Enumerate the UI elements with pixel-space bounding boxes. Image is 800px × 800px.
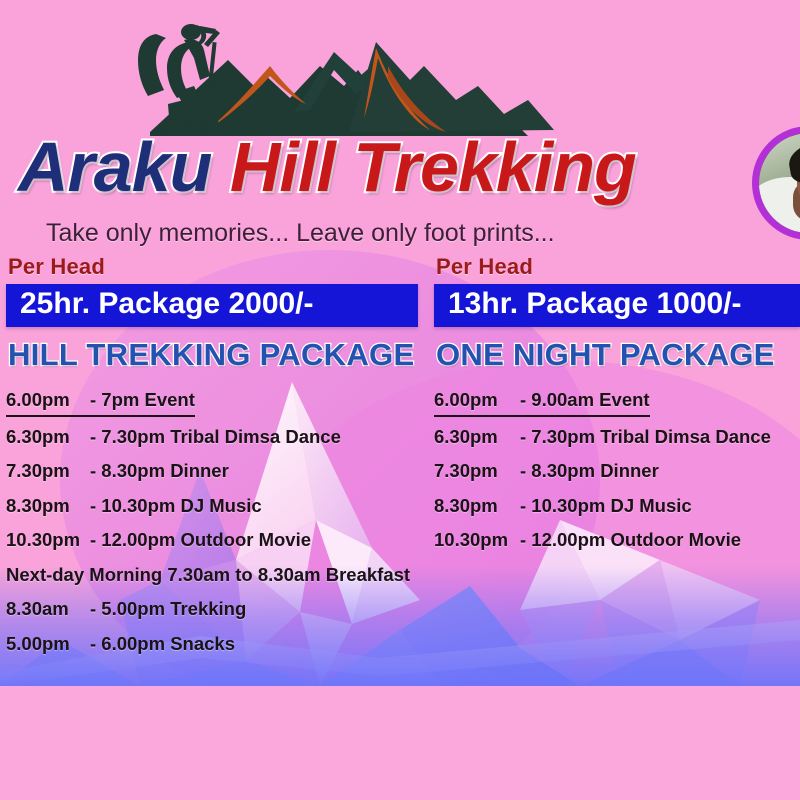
- schedule-item-time: 5.00pm: [6, 633, 90, 654]
- brand-wordmark: Araku Hill Trekking: [18, 132, 636, 202]
- per-head-label-left: Per Head: [8, 255, 418, 279]
- schedule-item-time: 8.30pm: [6, 495, 90, 516]
- schedule-item: 8.30am- 5.00pm Trekking: [6, 598, 418, 619]
- schedule-item: 7.30pm- 8.30pm Dinner: [6, 460, 418, 481]
- schedule-item-time: 7.30pm: [434, 460, 520, 481]
- schedule-item: 8.30pm- 10.30pm DJ Music: [434, 495, 800, 516]
- price-bar-right: 13hr. Package 1000/-: [434, 284, 800, 326]
- brand-word-araku: Araku: [18, 128, 211, 206]
- schedule-list-left: 6.00pm- 7pm Event6.30pm- 7.30pm Tribal D…: [6, 389, 418, 655]
- schedule-item-time: Next-day Morning 7.30am to 8.30am Breakf…: [6, 564, 410, 585]
- schedule-item: 6.00pm- 7pm Event: [6, 389, 195, 417]
- schedule-item: 6.30pm- 7.30pm Tribal Dimsa Dance: [6, 426, 418, 447]
- schedule-item-detail: - 7.30pm Tribal Dimsa Dance: [520, 426, 771, 447]
- package-title-left: HILL TREKKING PACKAGE: [8, 337, 418, 373]
- schedule-item: 7.30pm- 8.30pm Dinner: [434, 460, 800, 481]
- schedule-item-time: 6.00pm: [6, 389, 90, 410]
- schedule-item: 6.30pm- 7.30pm Tribal Dimsa Dance: [434, 426, 800, 447]
- per-head-label-right: Per Head: [436, 255, 800, 279]
- schedule-item-time: 6.00pm: [434, 389, 520, 410]
- package-title-right: ONE NIGHT PACKAGE: [436, 337, 800, 373]
- schedule-item-detail: - 8.30pm Dinner: [90, 460, 229, 481]
- brand-tagline: Take only memories... Leave only foot pr…: [46, 219, 555, 248]
- schedule-item: Next-day Morning 7.30am to 8.30am Breakf…: [6, 564, 418, 585]
- schedule-item-detail: - 12.00pm Outdoor Movie: [520, 529, 741, 550]
- schedule-item-time: 6.30pm: [434, 426, 520, 447]
- brand-word-hill-trekking: Hill Trekking: [230, 128, 636, 206]
- schedule-item-detail: - 5.00pm Trekking: [90, 598, 246, 619]
- schedule-item-time: 7.30pm: [6, 460, 90, 481]
- schedule-item: 8.30pm- 10.30pm DJ Music: [6, 495, 418, 516]
- schedule-item: 10.30pm- 12.00pm Outdoor Movie: [6, 529, 418, 550]
- package-column-one-night: Per Head 13hr. Package 1000/- ONE NIGHT …: [434, 255, 800, 564]
- schedule-item-detail: - 9.00am Event: [520, 389, 650, 410]
- schedule-item-detail: - 7.30pm Tribal Dimsa Dance: [90, 426, 341, 447]
- schedule-item: 5.00pm- 6.00pm Snacks: [6, 633, 418, 654]
- schedule-item-time: 8.30pm: [434, 495, 520, 516]
- schedule-item-time: 10.30pm: [6, 529, 90, 550]
- price-bar-left: 25hr. Package 2000/-: [6, 284, 418, 326]
- schedule-item-detail: - 7pm Event: [90, 389, 195, 410]
- person-photo-avatar: [752, 126, 800, 240]
- schedule-item-detail: - 12.00pm Outdoor Movie: [90, 529, 311, 550]
- schedule-item-detail: - 6.00pm Snacks: [90, 633, 235, 654]
- schedule-item-detail: - 10.30pm DJ Music: [90, 495, 262, 516]
- package-column-hill-trekking: Per Head 25hr. Package 2000/- HILL TREKK…: [6, 255, 418, 667]
- schedule-item-time: 8.30am: [6, 598, 90, 619]
- schedule-item: 10.30pm- 12.00pm Outdoor Movie: [434, 529, 800, 550]
- schedule-item-time: 6.30pm: [6, 426, 90, 447]
- schedule-item: 6.00pm- 9.00am Event: [434, 389, 650, 417]
- hiker-mountain-logo-icon: [58, 8, 638, 138]
- schedule-list-right: 6.00pm- 9.00am Event6.30pm- 7.30pm Triba…: [434, 389, 800, 551]
- poster-canvas: Araku Hill Trekking Take only memories..…: [0, 0, 800, 686]
- schedule-item-detail: - 8.30pm Dinner: [520, 460, 659, 481]
- schedule-item-detail: - 10.30pm DJ Music: [520, 495, 692, 516]
- schedule-item-time: 10.30pm: [434, 529, 520, 550]
